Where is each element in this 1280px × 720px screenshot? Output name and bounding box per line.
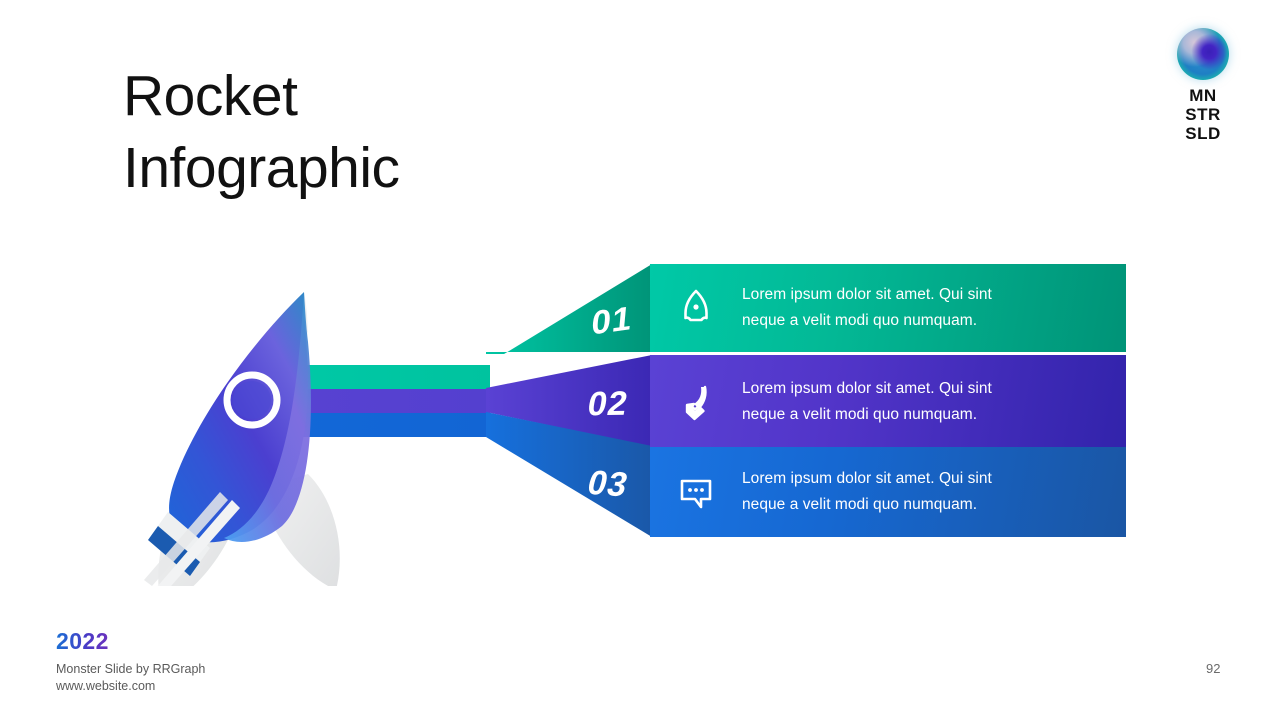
footer-year: 2022 xyxy=(56,628,109,655)
infographic-row-03[interactable]: Lorem ipsum dolor sit amet. Qui sint neq… xyxy=(650,447,1126,537)
row-description: Lorem ipsum dolor sit amet. Qui sint neq… xyxy=(742,376,992,428)
infographic-row-02[interactable]: Lorem ipsum dolor sit amet. Qui sint neq… xyxy=(650,355,1126,448)
phone-icon xyxy=(672,378,720,426)
row-description: Lorem ipsum dolor sit amet. Qui sint neq… xyxy=(742,282,992,334)
step-number-02: 02 xyxy=(584,385,631,425)
page-number: 92 xyxy=(1206,661,1220,676)
rocket-illustration-icon xyxy=(104,286,414,586)
brand-logo-text: MN STR SLD xyxy=(1175,86,1231,143)
infographic-row-01[interactable]: Lorem ipsum dolor sit amet. Qui sint neq… xyxy=(650,264,1126,352)
slide-canvas: Rocket Infographic MN STR SLD xyxy=(0,0,1280,720)
gradient-sphere-logo-icon xyxy=(1177,28,1229,80)
brand-logo: MN STR SLD xyxy=(1175,28,1231,143)
page-title: Rocket Infographic xyxy=(123,60,763,204)
rocket-icon xyxy=(672,284,720,332)
step-number-01: 01 xyxy=(590,299,634,343)
row-description: Lorem ipsum dolor sit amet. Qui sint neq… xyxy=(742,466,992,518)
footer-credit: Monster Slide by RRGraph www.website.com xyxy=(56,661,205,695)
chat-bubble-icon xyxy=(672,468,720,516)
